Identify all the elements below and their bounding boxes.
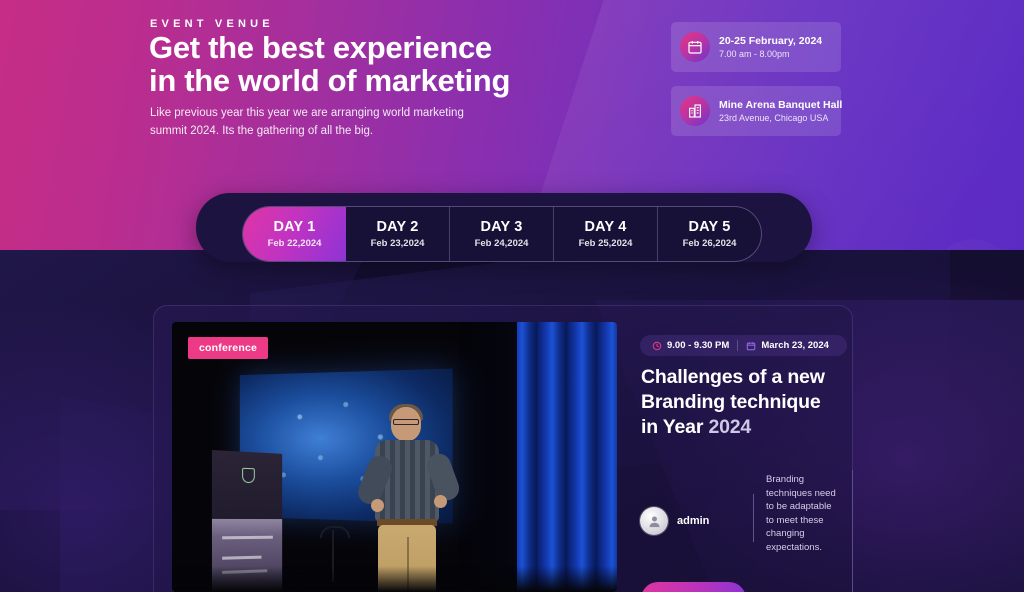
banner-logo-icon <box>242 468 255 483</box>
banner-text-line <box>222 556 261 560</box>
day-tabs: DAY 1 Feb 22,2024 DAY 2 Feb 23,2024 DAY … <box>242 206 762 262</box>
calendar-icon <box>746 341 756 351</box>
author-name: admin <box>677 515 709 527</box>
calendar-icon <box>680 32 710 62</box>
tab-day-2-title: DAY 2 <box>376 219 418 235</box>
tab-day-1-date: Feb 22,2024 <box>268 238 322 249</box>
session-time-label: 9.00 - 9.30 PM <box>667 340 729 351</box>
session-author[interactable]: admin <box>640 507 709 535</box>
info-card-venue[interactable]: Mine Arena Banquet Hall 23rd Avenue, Chi… <box>671 86 841 136</box>
description-divider <box>753 494 754 542</box>
tab-day-5[interactable]: DAY 5 Feb 26,2024 <box>658 207 761 261</box>
tab-day-1[interactable]: DAY 1 Feb 22,2024 <box>243 207 346 261</box>
session-description: Branding techniques need to be adaptable… <box>766 473 838 555</box>
info-card-venue-title: Mine Arena Banquet Hall <box>719 99 841 111</box>
headline-line-1: Get the best experience <box>149 30 492 65</box>
info-card-date-title: 20-25 February, 2024 <box>719 35 822 47</box>
event-venue-page: EVENT VENUE Get the best experience in t… <box>0 0 1024 592</box>
clock-icon <box>652 341 662 351</box>
card-right-edge <box>852 470 853 592</box>
info-card-date[interactable]: 20-25 February, 2024 7.00 am - 8.00pm <box>671 22 841 72</box>
avatar <box>640 507 668 535</box>
info-card-venue-subtitle: 23rd Avenue, Chicago USA <box>719 113 841 123</box>
building-icon <box>680 96 710 126</box>
session-title: Challenges of a new Branding technique i… <box>641 365 841 440</box>
tab-day-4[interactable]: DAY 4 Feb 25,2024 <box>554 207 658 261</box>
speaker-figure <box>367 407 451 592</box>
tab-day-4-date: Feb 25,2024 <box>579 238 633 249</box>
tab-day-1-title: DAY 1 <box>273 219 315 235</box>
tab-day-5-date: Feb 26,2024 <box>683 238 737 249</box>
session-time: 9.00 - 9.30 PM <box>650 340 737 351</box>
tab-day-4-title: DAY 4 <box>584 219 626 235</box>
banner-header <box>212 450 282 519</box>
tab-day-3[interactable]: DAY 3 Feb 24,2024 <box>450 207 554 261</box>
headline-line-2: in the world of marketing <box>149 64 709 97</box>
hero-eyebrow: EVENT VENUE <box>150 18 274 30</box>
session-title-line-1: Challenges of a <box>641 366 782 388</box>
banner-text-line <box>222 536 273 540</box>
tab-day-2-date: Feb 23,2024 <box>371 238 425 249</box>
stage-shadow <box>459 322 517 592</box>
speaker-hand-right <box>434 495 447 508</box>
stage-floor <box>172 566 617 592</box>
tab-day-3-title: DAY 3 <box>480 219 522 235</box>
tab-day-2[interactable]: DAY 2 Feb 23,2024 <box>346 207 450 261</box>
info-card-date-subtitle: 7.00 am - 8.00pm <box>719 49 822 59</box>
page-title: Get the best experience in the world of … <box>149 31 709 97</box>
tab-day-5-title: DAY 5 <box>688 219 730 235</box>
session-date: March 23, 2024 <box>737 340 837 351</box>
speaker-glasses <box>393 419 419 425</box>
status-badge: conference <box>188 337 268 359</box>
tab-day-3-date: Feb 24,2024 <box>475 238 529 249</box>
speaker-hand-left <box>371 499 384 512</box>
session-date-label: March 23, 2024 <box>761 340 829 351</box>
session-image <box>172 322 617 592</box>
session-title-line-4: 2024 <box>708 416 751 438</box>
read-more-button[interactable]: Read More <box>641 582 746 592</box>
hero-subtext: Like previous year this year we are arra… <box>150 104 480 140</box>
session-meta: 9.00 - 9.30 PM March 23, 2024 <box>640 335 847 356</box>
